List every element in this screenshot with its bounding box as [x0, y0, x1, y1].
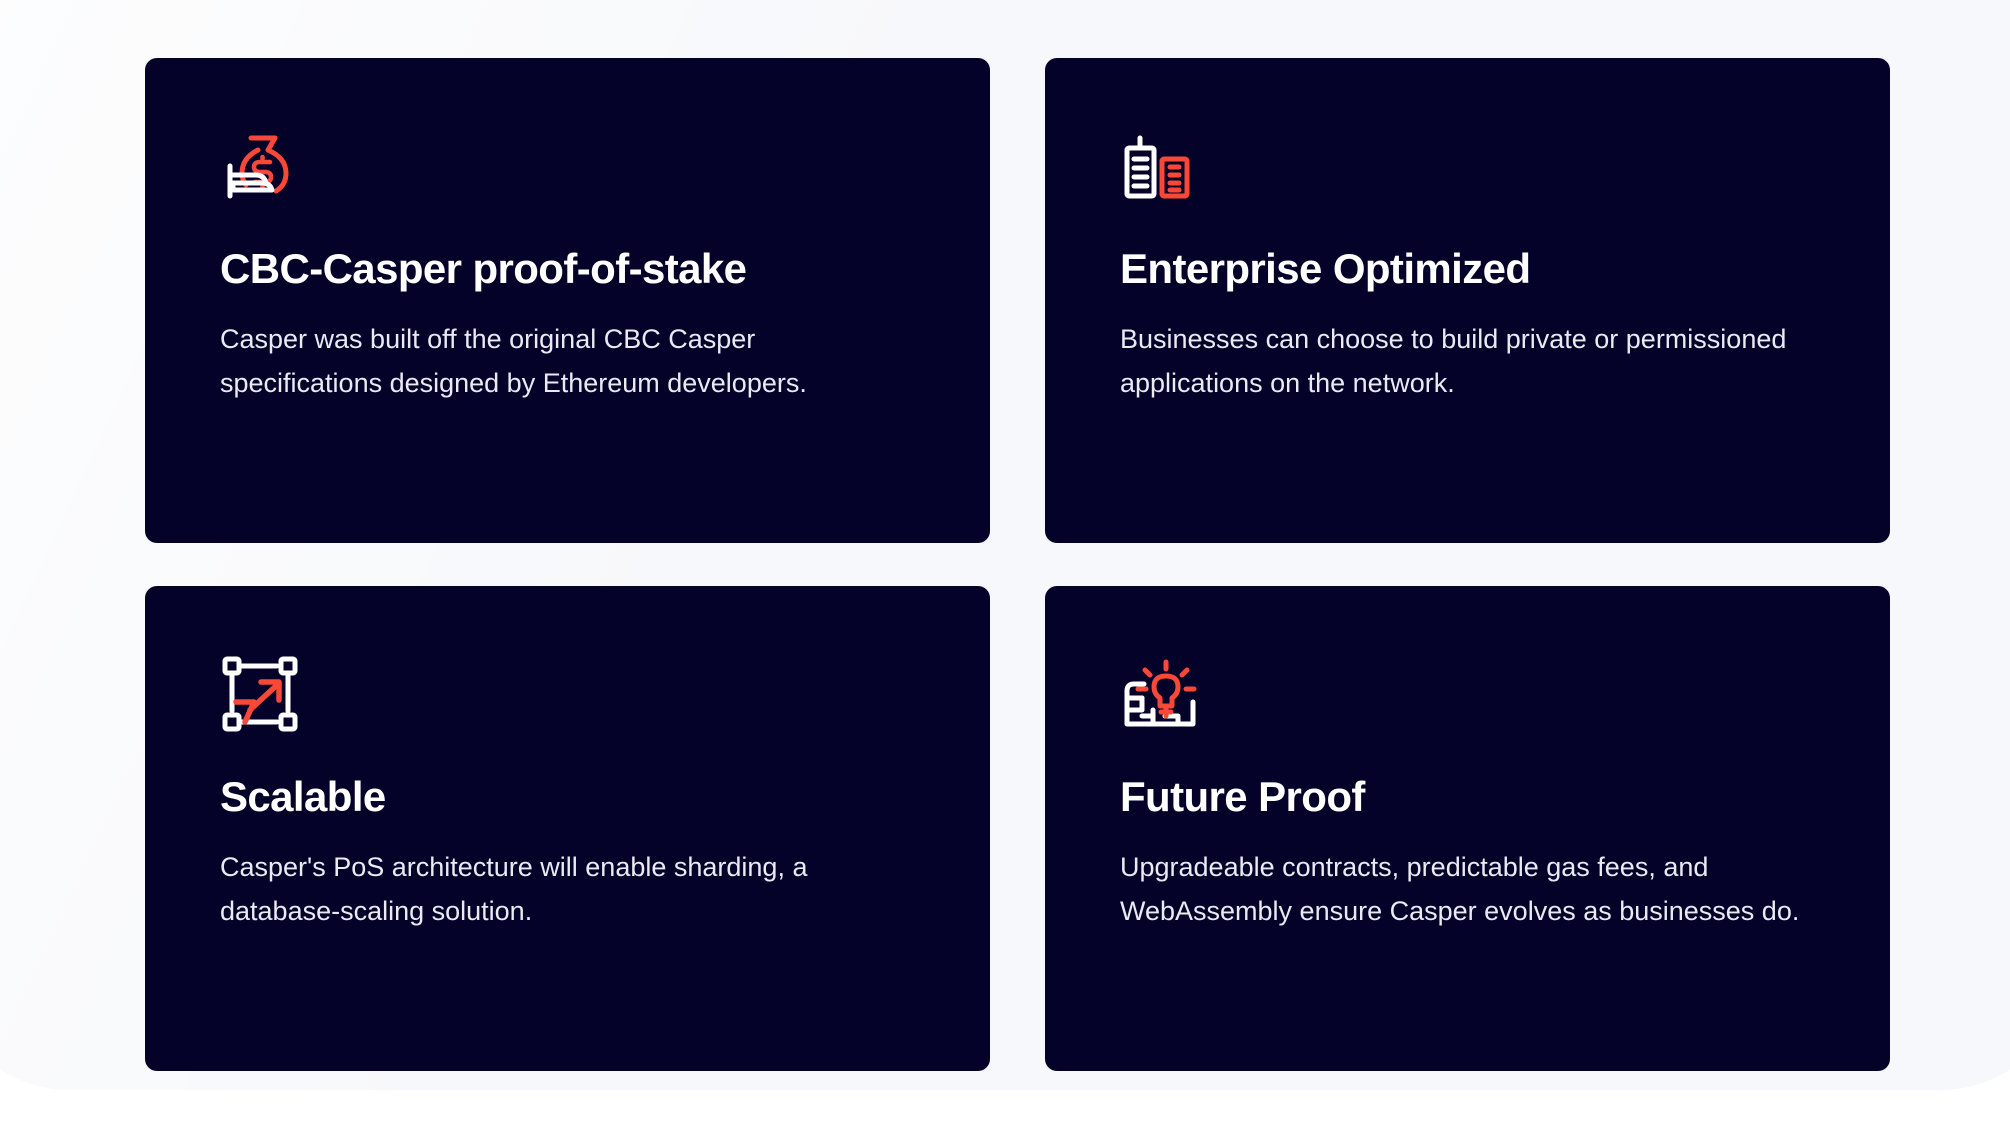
card-title: CBC-Casper proof-of-stake [220, 246, 915, 292]
lightbulb-circuit-icon [1120, 654, 1200, 734]
feature-card-enterprise-optimized[interactable]: Enterprise Optimized Businesses can choo… [1045, 58, 1890, 543]
card-body: Businesses can choose to build private o… [1120, 318, 1810, 405]
enterprise-buildings-icon [1120, 126, 1200, 206]
feature-card-cbc-casper[interactable]: CBC-Casper proof-of-stake Casper was bui… [145, 58, 990, 543]
card-title: Scalable [220, 774, 915, 820]
money-bag-stake-icon [220, 126, 300, 206]
card-title: Enterprise Optimized [1120, 246, 1815, 292]
card-body: Casper was built off the original CBC Ca… [220, 318, 910, 405]
card-body: Upgradeable contracts, predictable gas f… [1120, 846, 1810, 933]
feature-cards-grid: CBC-Casper proof-of-stake Casper was bui… [145, 58, 1890, 1071]
card-body: Casper's PoS architecture will enable sh… [220, 846, 910, 933]
scale-expand-arrow-icon [220, 654, 300, 734]
card-title: Future Proof [1120, 774, 1815, 820]
feature-card-scalable[interactable]: Scalable Casper's PoS architecture will … [145, 586, 990, 1071]
feature-card-future-proof[interactable]: Future Proof Upgradeable contracts, pred… [1045, 586, 1890, 1071]
